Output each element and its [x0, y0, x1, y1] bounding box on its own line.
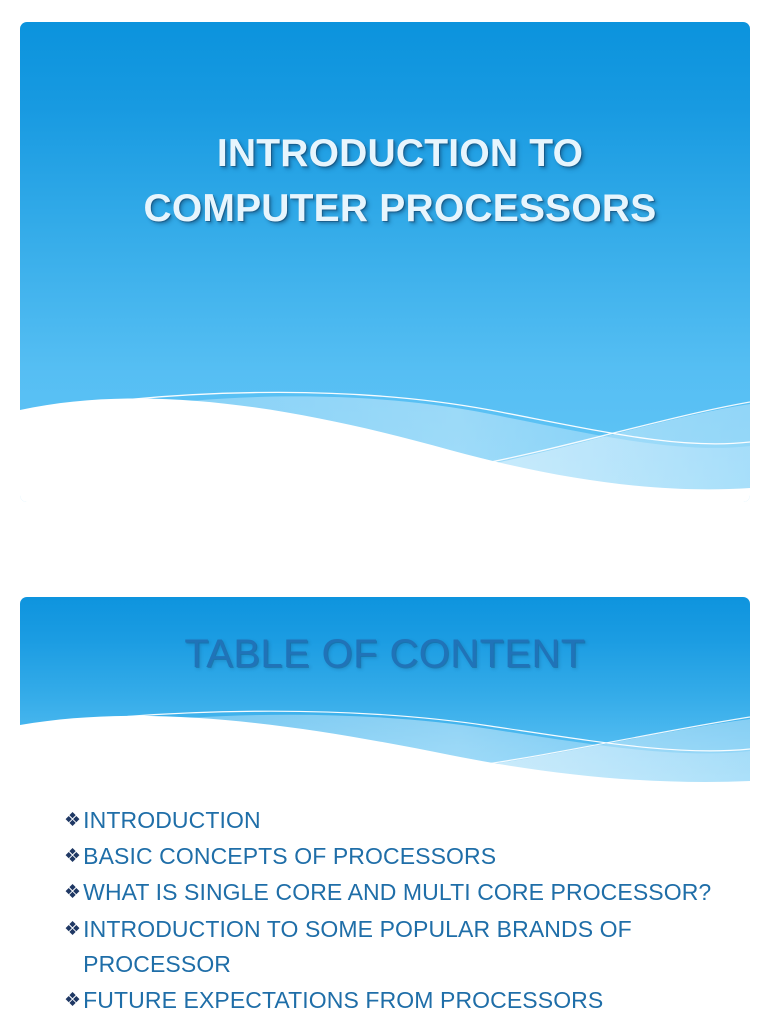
diamond-bullet-icon: ❖: [64, 803, 81, 838]
list-item[interactable]: ❖ FUTURE EXPECTATIONS FROM PROCESSORS: [64, 983, 730, 1018]
wave-decoration-slide2: [20, 679, 750, 789]
list-item-label: INTRODUCTION: [83, 803, 730, 838]
list-item-label: INTRODUCTION TO SOME POPULAR BRANDS OF P…: [83, 912, 730, 982]
section-title: TABLE OF CONTENT: [20, 632, 750, 677]
slide2-header-band: TABLE OF CONTENT: [20, 597, 750, 789]
list-item[interactable]: ❖ BASIC CONCEPTS OF PROCESSORS: [64, 839, 730, 874]
list-item[interactable]: ❖ INTRODUCTION: [64, 803, 730, 838]
list-item-label: WHAT IS SINGLE CORE AND MULTI CORE PROCE…: [83, 875, 730, 910]
list-item[interactable]: ❖ WHAT IS SINGLE CORE AND MULTI CORE PRO…: [64, 875, 730, 910]
table-of-content-list: ❖ INTRODUCTION ❖ BASIC CONCEPTS OF PROCE…: [64, 803, 730, 1019]
slide-table-of-content[interactable]: TABLE OF CONTENT: [20, 597, 750, 1024]
diamond-bullet-icon: ❖: [64, 912, 81, 947]
diamond-bullet-icon: ❖: [64, 983, 81, 1018]
wave-decoration-slide1: [20, 342, 750, 502]
list-item[interactable]: ❖ INTRODUCTION TO SOME POPULAR BRANDS OF…: [64, 912, 730, 982]
list-item-label: BASIC CONCEPTS OF PROCESSORS: [83, 839, 730, 874]
diamond-bullet-icon: ❖: [64, 839, 81, 874]
list-item-label: FUTURE EXPECTATIONS FROM PROCESSORS: [83, 983, 730, 1018]
diamond-bullet-icon: ❖: [64, 875, 81, 910]
slide-title-slide[interactable]: INTRODUCTION TO COMPUTER PROCESSORS: [20, 22, 750, 502]
presentation-title: INTRODUCTION TO COMPUTER PROCESSORS: [60, 126, 740, 237]
slide-deck-page: INTRODUCTION TO COMPUTER PROCESSORS: [0, 0, 768, 1024]
